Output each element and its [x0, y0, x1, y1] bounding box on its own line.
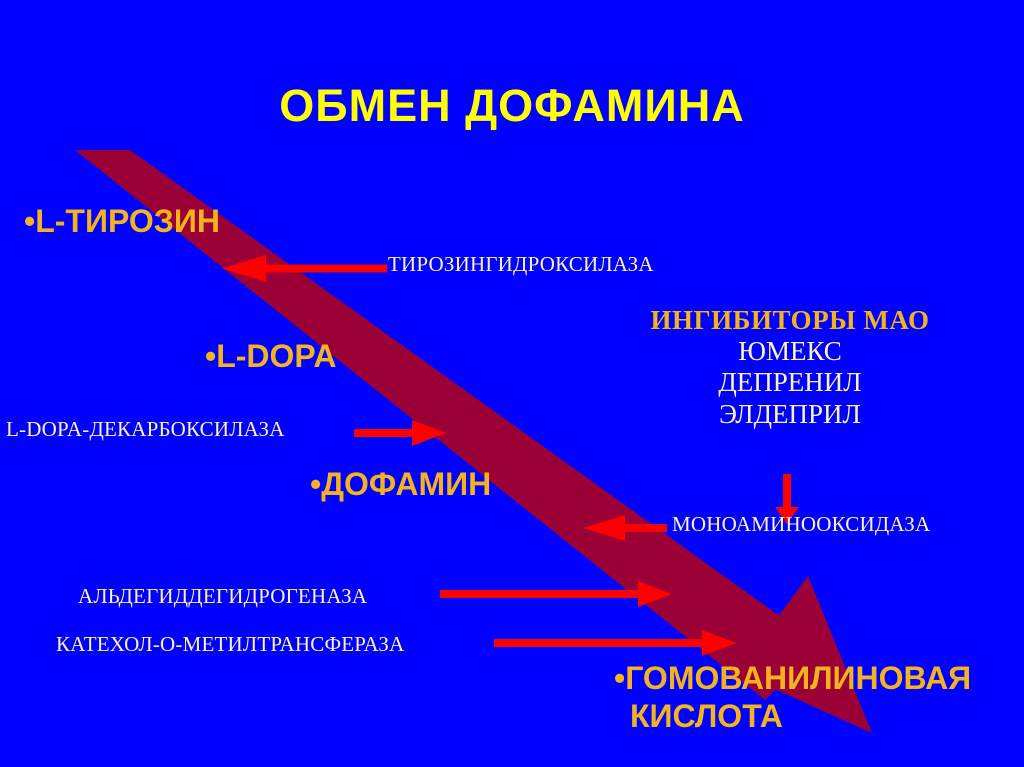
enzyme-tyrosine-hydroxylase: ТИРОЗИНГИДРОКСИЛАЗА [388, 254, 654, 275]
metabolite-homovanillic-acid-line1: •ГОМОВАНИЛИНОВАЯ [614, 662, 971, 695]
metabolite-homovanillic-acid-line2: КИСЛОТА [630, 700, 783, 733]
drug-deprenyl: ДЕПРЕНИЛ [590, 367, 990, 398]
drug-eldepryl: ЭЛДЕПРИЛ [590, 399, 990, 430]
enzyme-dopa-decarboxylase: L-DOPA-ДЕКАРБОКСИЛАЗА [6, 419, 285, 440]
slide-canvas: ОБМЕН ДОФАМИНА •L-ТИРОЗИН ТИРОЗИНГИДРОКС… [0, 0, 1024, 767]
mao-inhibitors-block: ИНГИБИТОРЫ МАО ЮМЕКС ДЕПРЕНИЛ ЭЛДЕПРИЛ [590, 305, 990, 430]
dopa-decarboxylase-icon [354, 420, 446, 446]
page-title: ОБМЕН ДОФАМИНА [0, 80, 1024, 132]
tyrosine-hydroxylase-icon [222, 255, 387, 283]
metabolite-dopamine: •ДОФАМИН [310, 468, 491, 501]
monoamine-oxidase-icon [583, 514, 667, 542]
comt-icon [494, 629, 736, 657]
aldehyde-dehydrogenase-icon [440, 580, 672, 608]
enzyme-monoamine-oxidase: МОНОАМИНООКСИДАЗА [672, 514, 930, 535]
metabolite-l-tyrosine: •L-ТИРОЗИН [24, 205, 220, 238]
mao-inhibitors-heading: ИНГИБИТОРЫ МАО [590, 305, 990, 336]
metabolite-l-dopa: •L-DOPA [205, 340, 336, 373]
drug-yumex: ЮМЕКС [590, 336, 990, 367]
enzyme-aldehyde-dehydrogenase: АЛЬДЕГИДДЕГИДРОГЕНАЗА [78, 586, 367, 607]
enzyme-comt: КАТЕХОЛ-О-МЕТИЛТРАНСФЕРАЗА [56, 634, 404, 655]
